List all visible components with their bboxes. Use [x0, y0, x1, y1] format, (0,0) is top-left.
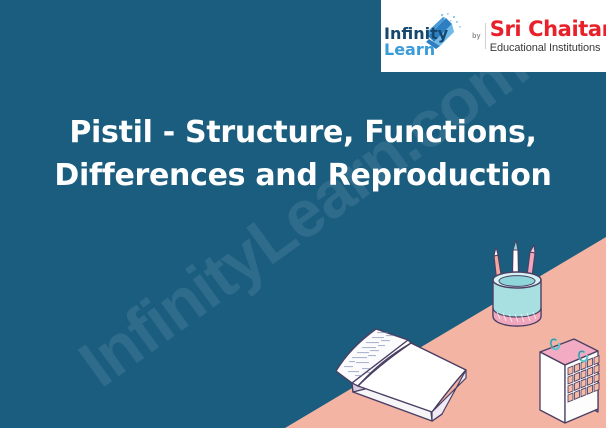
course-banner: InfinityLearn.com [0, 0, 606, 428]
page-title-line-2: Differences and Reproduction [28, 155, 578, 198]
logo-connector: by [472, 23, 486, 49]
partner-tagline: Educational Institutions [490, 43, 606, 54]
sri-chaitanya-logo[interactable]: Sri Chaitanya Educational Institutions [490, 19, 606, 54]
page-title-line-1: Pistil - Structure, Functions, [28, 112, 578, 155]
logo-divider [485, 23, 486, 49]
learn-wordmark: Learn [384, 40, 435, 59]
infinity-learn-logo-svg: Infinity Learn [382, 12, 468, 60]
by-label: by [472, 33, 481, 40]
brand-logo-box[interactable]: Infinity Learn by Sri Chaitanya Educatio… [381, 0, 606, 72]
infinity-learn-logo[interactable]: Infinity Learn [382, 12, 468, 60]
partner-name: Sri Chaitanya [490, 19, 606, 40]
page-title: Pistil - Structure, Functions, Differenc… [28, 112, 578, 197]
